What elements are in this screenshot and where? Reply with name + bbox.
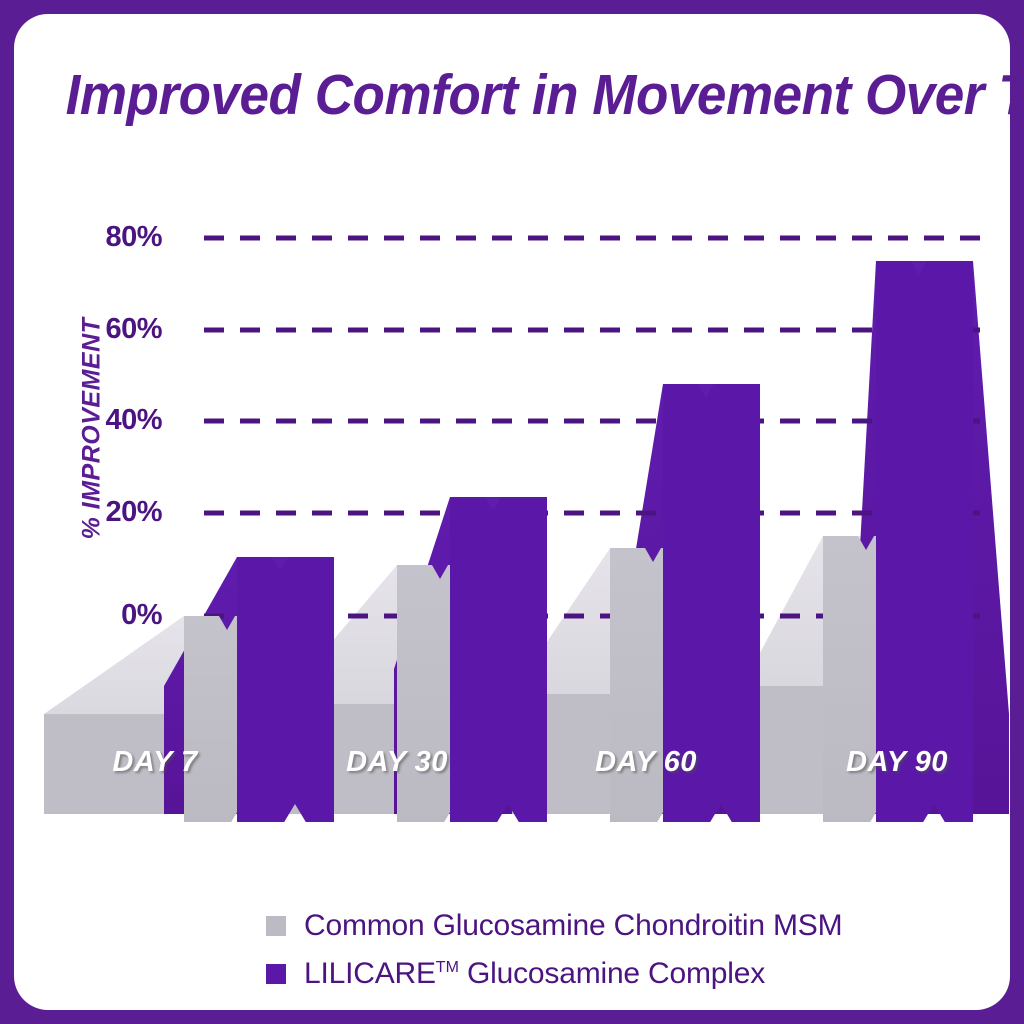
category-label-day7: DAY 7 xyxy=(50,746,260,779)
chart-legend: Common Glucosamine Chondroitin MSM LILIC… xyxy=(14,902,1010,998)
trademark-symbol: TM xyxy=(436,959,459,976)
y-tick-60: 60% xyxy=(76,313,162,346)
legend-swatch-gray-icon xyxy=(266,916,286,936)
y-tick-40: 40% xyxy=(76,404,162,437)
y-tick-80: 80% xyxy=(76,221,162,254)
legend-swatch-purple-icon xyxy=(266,964,286,984)
legend-brand-tail: Glucosamine Complex xyxy=(459,957,765,990)
chart-card: Improved Comfort in Movement Over Time xyxy=(14,14,1010,1010)
bar-chart-plot: % IMPROVEMENT 80% 60% 40% 20% 0% DAY 7 D… xyxy=(14,14,1010,884)
legend-item-common: Common Glucosamine Chondroitin MSM xyxy=(14,902,1010,950)
y-tick-20: 20% xyxy=(76,496,162,529)
category-label-day90: DAY 90 xyxy=(792,746,1002,779)
category-label-day60: DAY 60 xyxy=(541,746,751,779)
legend-brand-name: LILICARE xyxy=(304,957,436,990)
legend-item-lilicare: LILICARETM Glucosamine Complex xyxy=(14,950,1010,998)
baseline-mask xyxy=(14,822,1010,884)
y-tick-0: 0% xyxy=(76,599,162,632)
legend-label-common: Common Glucosamine Chondroitin MSM xyxy=(304,909,842,943)
category-label-day30: DAY 30 xyxy=(292,746,502,779)
bar-day90-purple xyxy=(876,261,973,824)
bar-day7-purple xyxy=(237,557,334,824)
legend-label-lilicare: LILICARETM Glucosamine Complex xyxy=(304,957,765,991)
infographic-root: Improved Comfort in Movement Over Time xyxy=(0,0,1024,1024)
